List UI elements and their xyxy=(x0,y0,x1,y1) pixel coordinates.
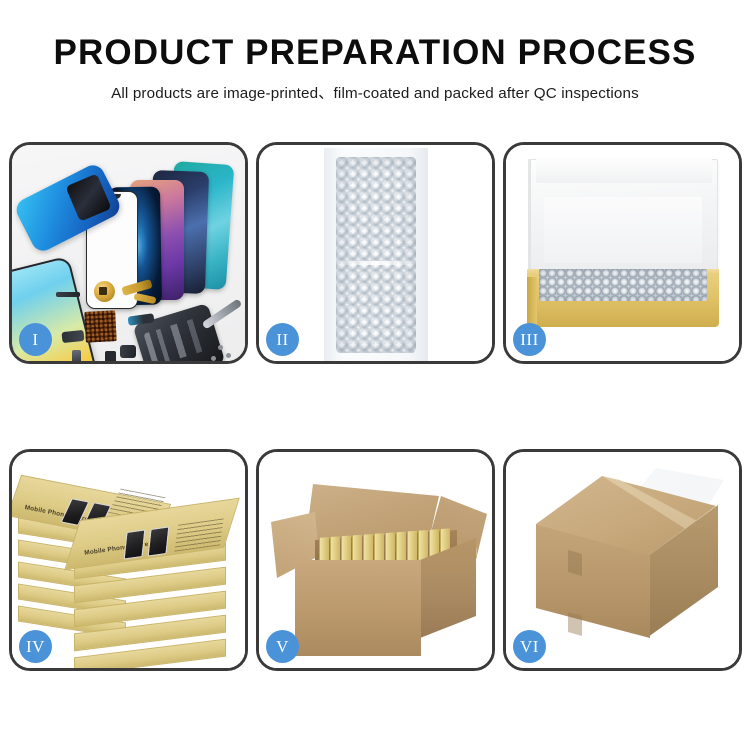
step-panel-5: V xyxy=(256,449,495,671)
phone-screen-print-icon xyxy=(124,529,146,559)
carton-front-panel-icon xyxy=(295,560,421,656)
step-badge-1: I xyxy=(19,323,52,356)
step-panel-6: VI xyxy=(503,449,742,671)
phone-screen-print-icon xyxy=(148,526,170,556)
screw-icon xyxy=(218,345,223,350)
screw-icon xyxy=(226,353,231,358)
header: PRODUCT PREPARATION PROCESS All products… xyxy=(0,34,750,103)
bubble-wrap-icon xyxy=(336,157,416,353)
carton-seam-tab-icon xyxy=(568,550,582,576)
wrap-seam-icon xyxy=(333,261,419,265)
step-panel-1: I xyxy=(9,142,248,364)
step-panel-3: III xyxy=(503,142,742,364)
earpiece-strip-icon xyxy=(56,292,80,297)
box-lid-top-edge-icon xyxy=(536,157,712,183)
speaker-module-icon xyxy=(94,281,115,302)
step-badge-3: III xyxy=(513,323,546,356)
battery-connector-icon xyxy=(120,345,136,358)
step-badge-4: IV xyxy=(19,630,52,663)
camera-module-icon xyxy=(61,330,84,343)
step-badge-5: V xyxy=(266,630,299,663)
foam-sheet-icon xyxy=(544,197,702,263)
page-subtitle: All products are image-printed、film-coat… xyxy=(0,81,750,103)
product-preparation-infographic: PRODUCT PREPARATION PROCESS All products… xyxy=(0,0,750,750)
step-panel-4: Mobile Phone Spare Parts Mobile Phone Sp… xyxy=(9,449,248,671)
step-badge-2: II xyxy=(266,323,299,356)
vibration-motor-icon xyxy=(72,350,81,361)
step-panel-2: II xyxy=(256,142,495,364)
step-badge-6: VI xyxy=(513,630,546,663)
box-tray-side-icon xyxy=(527,277,537,327)
carton-seam-tab-icon xyxy=(568,612,582,636)
bubble-wrapped-contents-icon xyxy=(539,269,707,301)
connector-chip-icon xyxy=(84,310,117,343)
sim-tray-icon xyxy=(105,351,116,361)
process-steps-grid: I II xyxy=(9,142,741,671)
page-title: PRODUCT PREPARATION PROCESS xyxy=(0,34,750,72)
screw-icon xyxy=(211,356,216,361)
